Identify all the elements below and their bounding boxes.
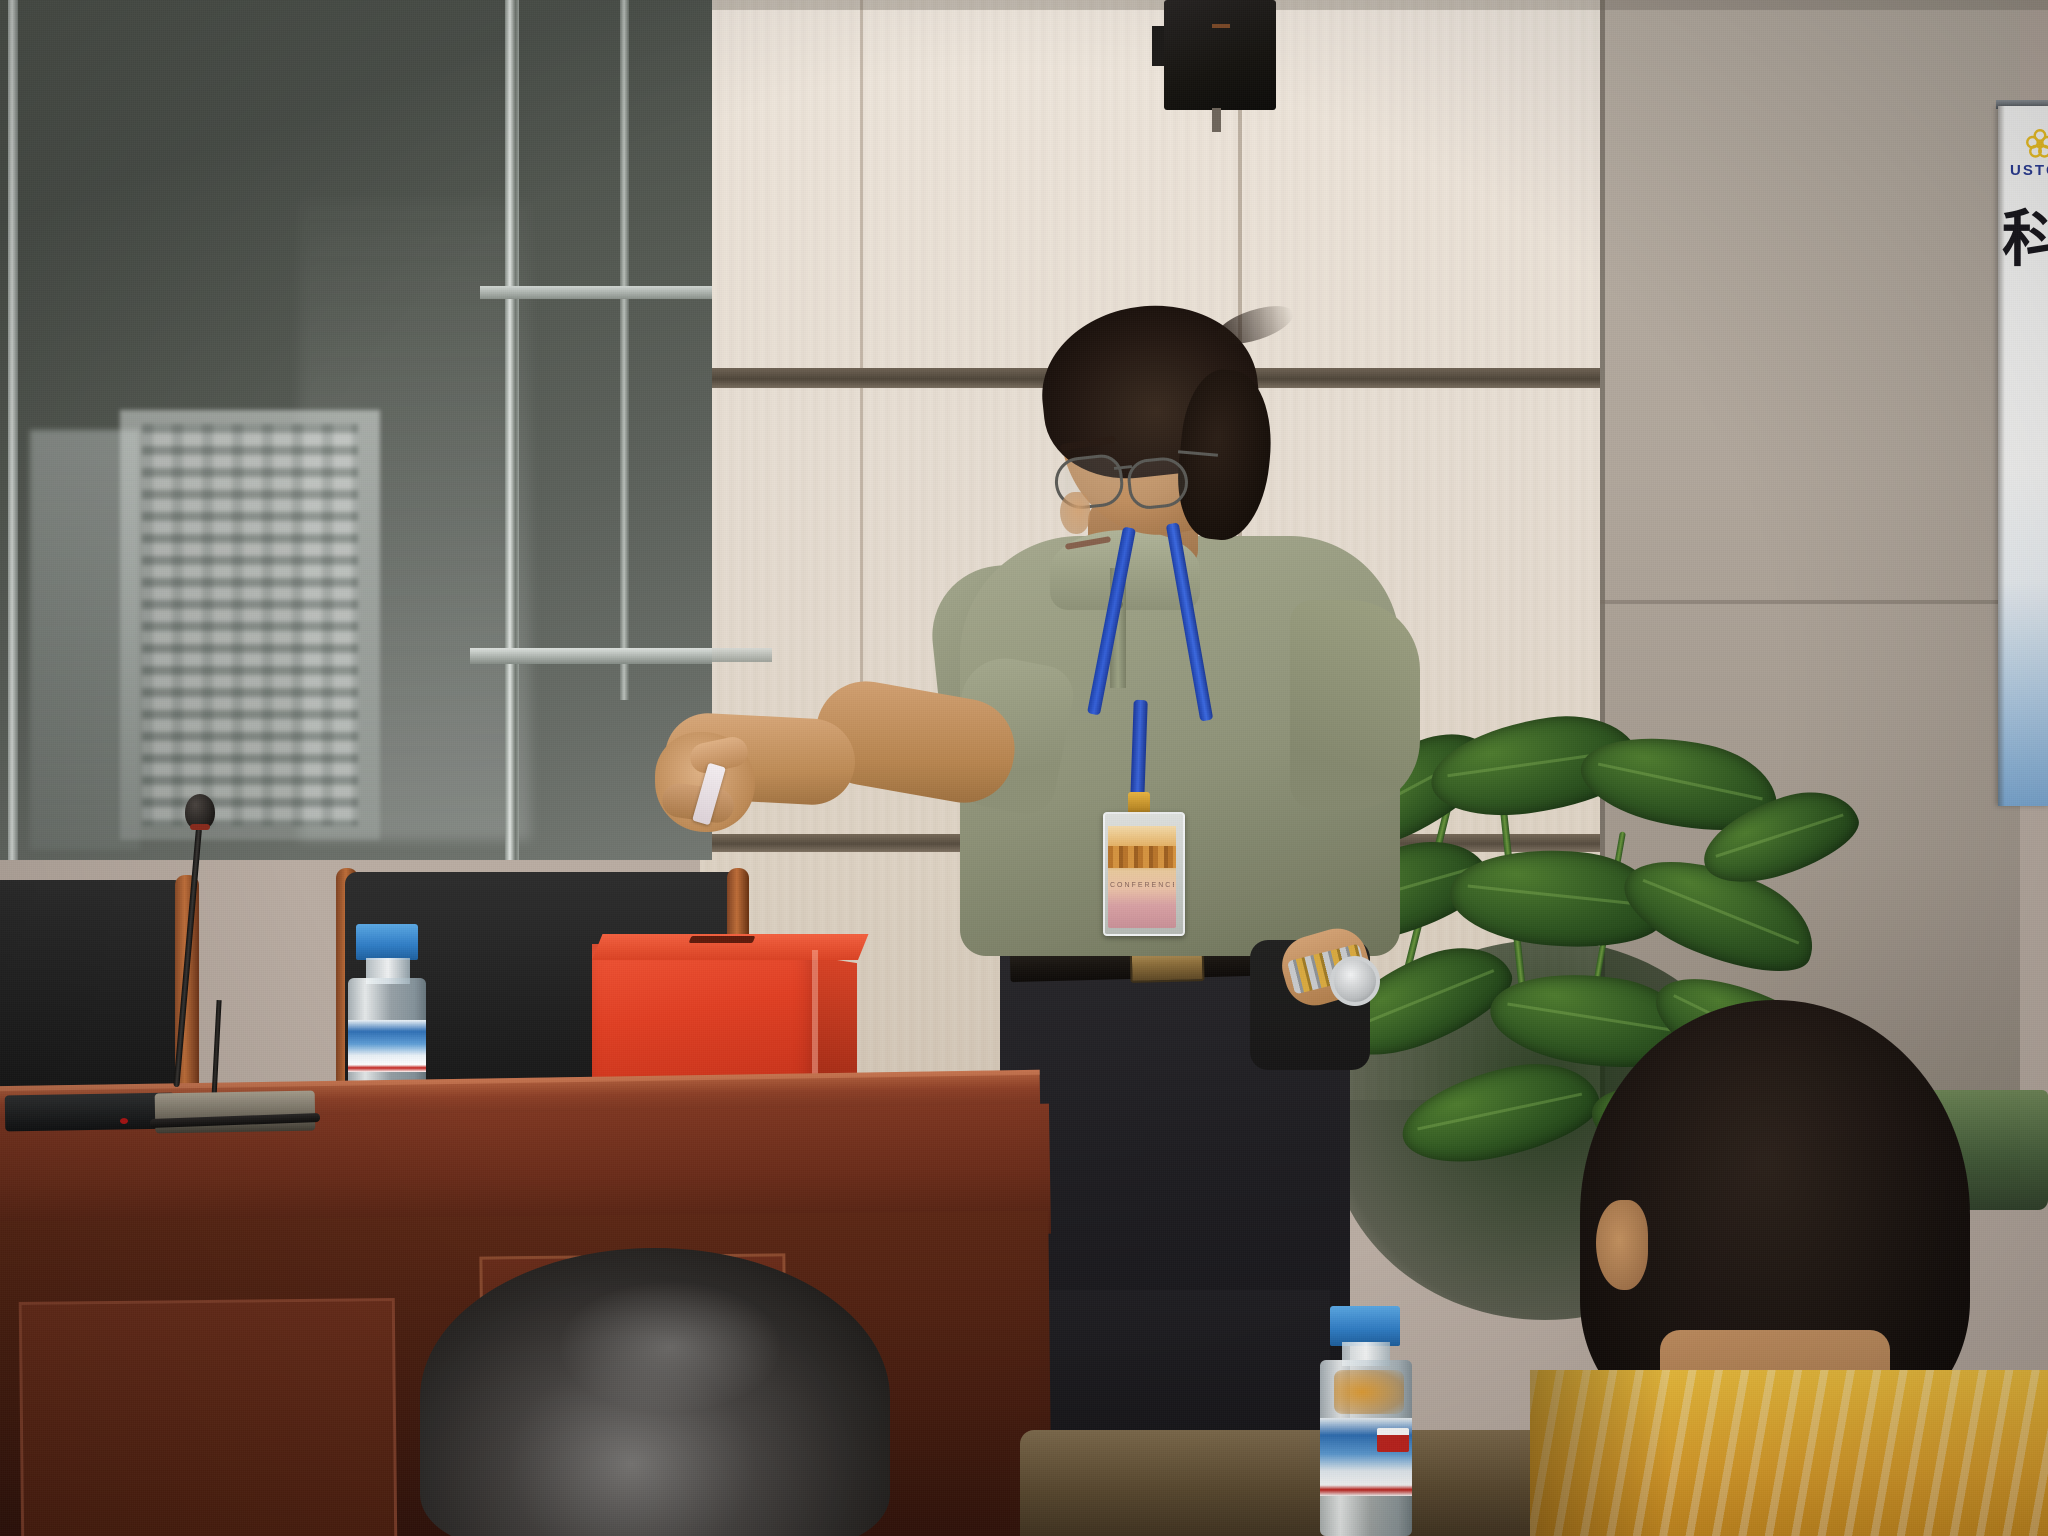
glass-mullion [505,0,519,860]
wall-seam [1600,600,2020,604]
bottle-cap [1330,1306,1400,1346]
lottery-box-edge-highlight [812,950,818,1090]
banner-chinese-text: 科 [2002,206,2048,271]
lottery-box-slot [689,936,756,943]
ceiling-trim [700,0,2048,10]
badge-artwork-hills [1108,846,1176,868]
power-led-icon [120,1118,128,1124]
wall-seam [860,0,863,700]
presenter-sleeve [1290,600,1420,810]
bottle-label [348,1020,426,1072]
banner-edge-shadow [1998,106,2005,806]
audience-hair-highlight [560,1282,780,1412]
glass-reflection-building [120,410,380,840]
bottle-cap [356,924,418,960]
audience-ear [1596,1200,1648,1290]
glass-mullion [620,0,629,700]
photograph-scene: tinted glass partition USTC 科 [0,0,2048,1536]
badge-caption: CONFERENCE [1110,882,1174,889]
lottery-box-side [817,957,857,1091]
bottle-contents [1334,1370,1404,1414]
chair-backrest [0,880,182,1095]
plant-leaf [1393,1050,1607,1176]
glass-rail [712,648,772,662]
bottle-brand-logo-icon [1377,1428,1409,1452]
lanyard-clip [1128,792,1150,814]
glass-rail [480,286,712,299]
microphone-base [155,1091,316,1134]
microphone-indicator-ring [190,824,210,830]
presenter-nose [1060,492,1090,534]
banner-acronym: USTC [2010,162,2048,179]
wristwatch-icon [1330,956,1380,1006]
podium-panel [19,1298,398,1536]
glass-mullion [8,0,18,860]
pa-speaker-icon [1164,0,1276,110]
audience-shirt-shadow [1530,1370,1670,1536]
glass-rail [470,648,712,664]
lottery-box [592,944,817,1092]
ustc-plum-blossom-logo-icon [2025,128,2048,158]
speaker-led [1212,24,1230,28]
speaker-stem [1212,108,1221,132]
